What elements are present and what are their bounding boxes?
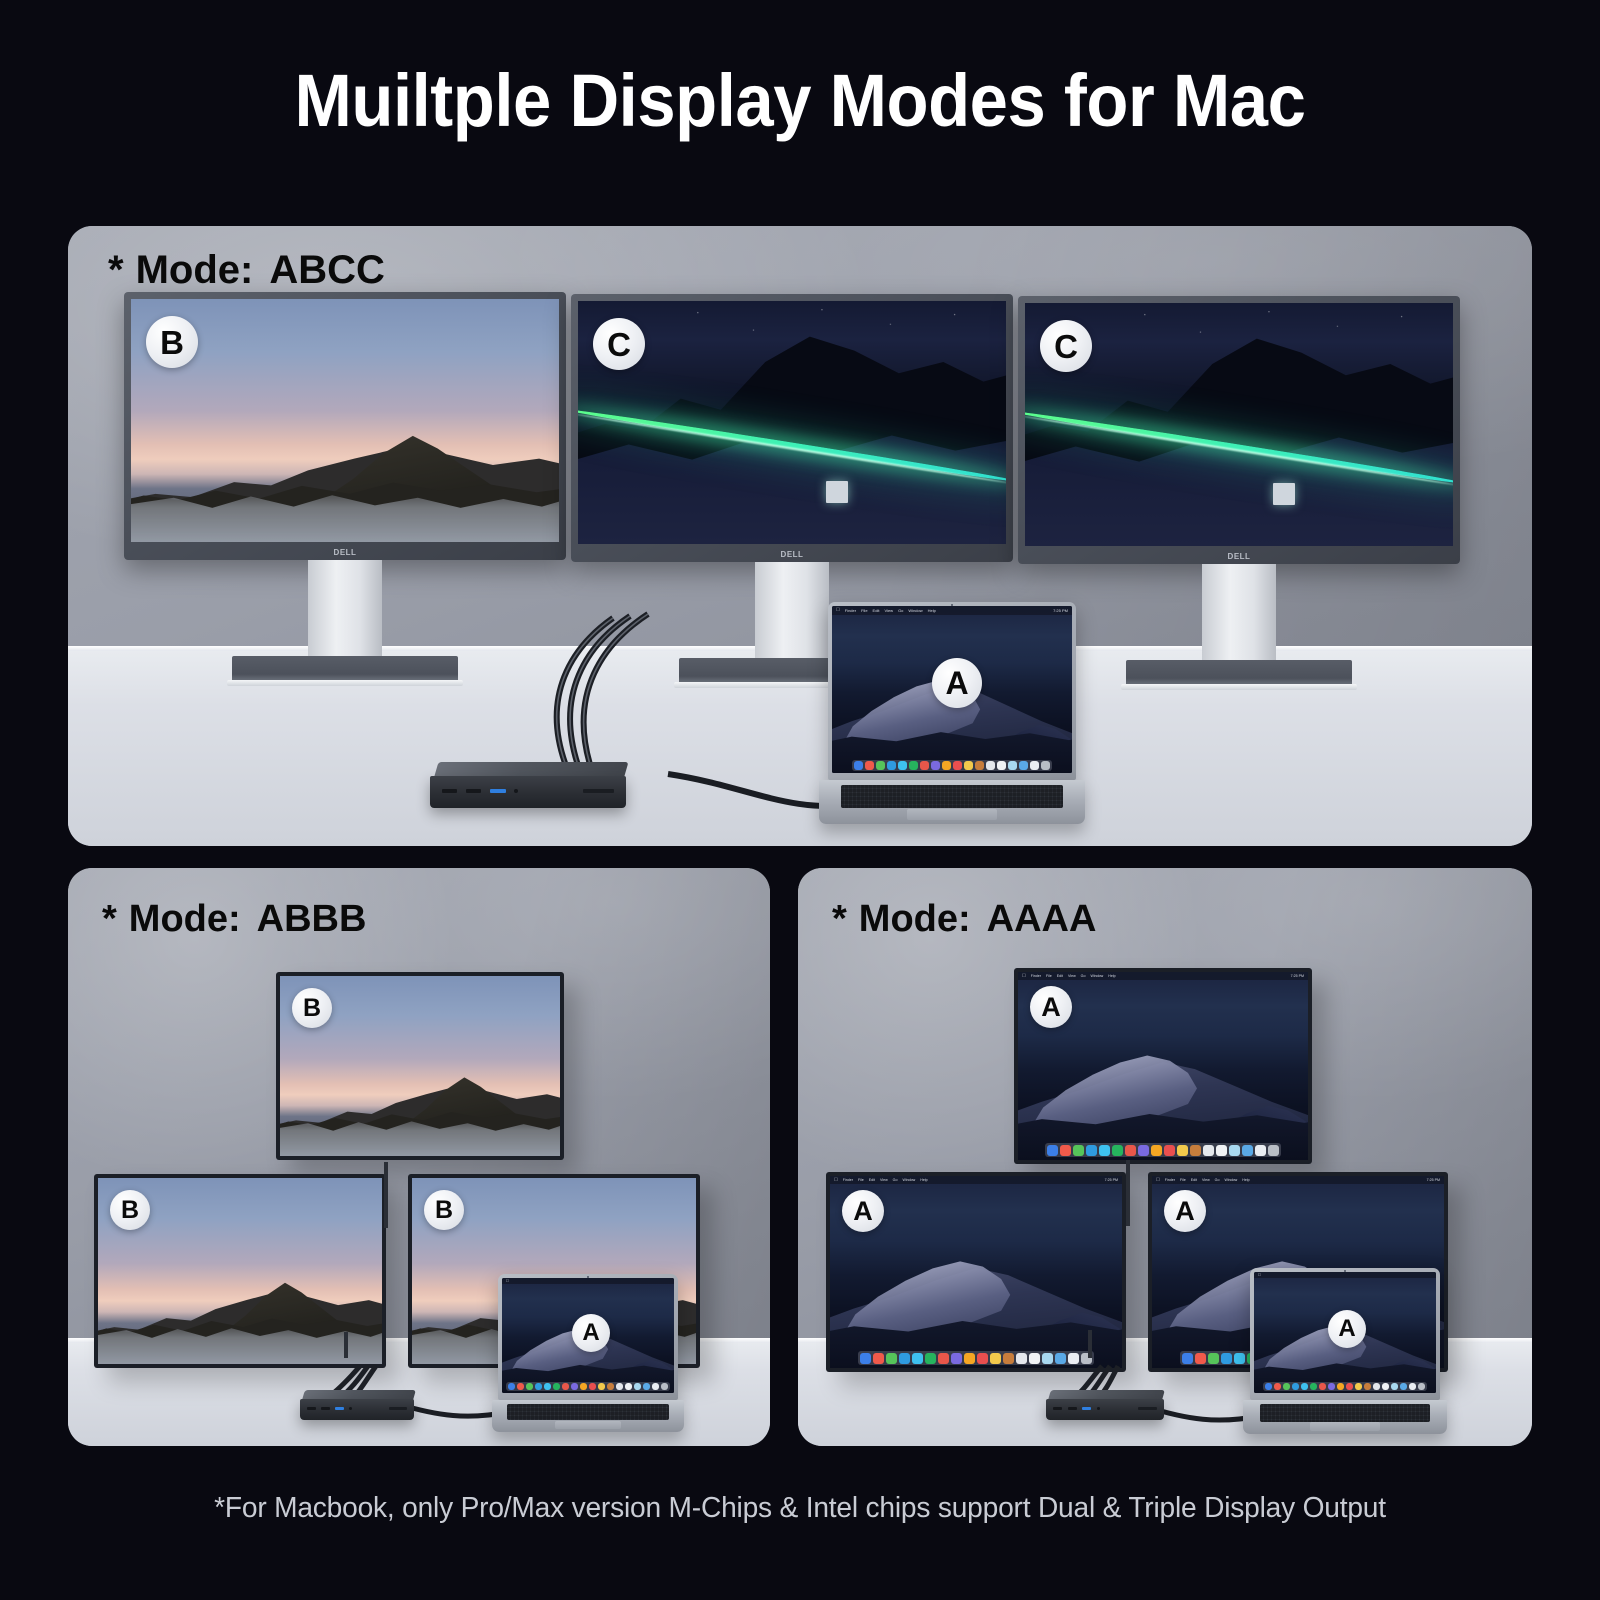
dock-icon[interactable]: [873, 1353, 884, 1364]
menu-item-finder[interactable]: Finder: [845, 608, 856, 613]
dock-icon[interactable]: [1019, 761, 1028, 770]
dock-icon[interactable]: [1029, 1353, 1040, 1364]
dock-icon[interactable]: [616, 1383, 623, 1390]
dock-icon[interactable]: [951, 1353, 962, 1364]
dock-icon[interactable]: [553, 1383, 560, 1390]
audio-jack-icon: [1097, 1407, 1100, 1410]
menubar-status-area[interactable]: 7:25 PM: [1427, 1178, 1440, 1182]
dock-port-row: [1053, 1407, 1157, 1410]
dock-icon[interactable]: [1400, 1383, 1407, 1390]
mode-asterisk: *: [108, 248, 124, 292]
dock-icon[interactable]: [1177, 1145, 1188, 1156]
mode-label-aaaa: *Mode:AAAA: [832, 898, 1096, 941]
menu-item-file[interactable]: File: [1046, 974, 1052, 978]
dock-icon[interactable]: [1208, 1353, 1219, 1364]
dock-icon[interactable]: [1234, 1353, 1245, 1364]
laptop-badge: A: [572, 1314, 610, 1352]
dock-icon[interactable]: [854, 761, 863, 770]
macos-dock[interactable]: [1263, 1382, 1427, 1391]
display-badge: B: [146, 316, 198, 368]
menu-item-help[interactable]: Help: [1108, 974, 1115, 978]
macbook-base: [1243, 1400, 1446, 1434]
dock-icon[interactable]: [1003, 1353, 1014, 1364]
apple-menu-icon[interactable]: : [1156, 1178, 1160, 1183]
menu-item-view[interactable]: View: [1068, 974, 1076, 978]
menu-item-help[interactable]: Help: [928, 608, 936, 613]
macbook-base: [819, 780, 1084, 824]
menu-item-finder[interactable]: Finder: [1165, 1178, 1175, 1182]
audio-jack-icon: [514, 789, 518, 793]
usb-c-port-icon: [1053, 1407, 1062, 1410]
menubar-status-area[interactable]: 7:25 PM: [1105, 1178, 1118, 1182]
menu-item-file[interactable]: File: [861, 608, 867, 613]
mode-word: Mode:: [859, 898, 971, 940]
dock-icon[interactable]: [544, 1383, 551, 1390]
dock-icon[interactable]: [1274, 1383, 1281, 1390]
dock-icon[interactable]: [1255, 1145, 1266, 1156]
dock-icon[interactable]: [1391, 1383, 1398, 1390]
macbook-aaaa:  A: [1250, 1268, 1440, 1436]
dell-logo: DELL: [1228, 552, 1251, 561]
dock-icon[interactable]: [886, 1353, 897, 1364]
dock-icon[interactable]: [931, 761, 940, 770]
monitor-stand-neck: [1202, 564, 1276, 666]
dock-icon[interactable]: [1203, 1145, 1214, 1156]
usb-c-port-icon: [442, 789, 458, 793]
dock-icon[interactable]: [1068, 1353, 1079, 1364]
docking-station-abcc[interactable]: [430, 762, 626, 808]
sd-card-slot-icon: [389, 1407, 407, 1410]
panel-mode-abbb: *Mode:ABBB B: [68, 868, 770, 1446]
dock-icon[interactable]: [1301, 1383, 1308, 1390]
monitor-stand-base: [232, 656, 458, 682]
dock-icon[interactable]: [571, 1383, 578, 1390]
dock-port-row: [307, 1407, 407, 1410]
dock-icon[interactable]: [986, 761, 995, 770]
display-badge: C: [593, 318, 645, 370]
dock-icon[interactable]: [876, 761, 885, 770]
mode-label-abcc: *Mode:ABCC: [108, 248, 385, 293]
display-badge: B: [292, 988, 332, 1028]
dock-icon[interactable]: [1221, 1353, 1232, 1364]
dock-icon[interactable]: [977, 1353, 988, 1364]
macbook-base: [492, 1400, 685, 1432]
mode-word: Mode:: [129, 898, 241, 940]
sd-card-slot-icon: [583, 789, 614, 793]
usb-a-port-icon: [335, 1407, 344, 1410]
usb-c-port-icon: [321, 1407, 330, 1410]
macos-menubar[interactable]: : [502, 1278, 674, 1284]
usb-a-port-icon: [490, 789, 506, 793]
webcam-icon: [587, 1276, 589, 1278]
macos-menubar[interactable]:  Finder File Edit View Go Window Help 7…: [832, 606, 1072, 615]
dock-icon[interactable]: [860, 1353, 871, 1364]
page-title: Muiltple Display Modes for Mac: [56, 62, 1544, 140]
dock-icon[interactable]: [1112, 1145, 1123, 1156]
dock-icon[interactable]: [1319, 1383, 1326, 1390]
monitor-stand-base: [1126, 660, 1352, 686]
display-2-aaaa:  Finder File Edit View Go Window Help 7…: [826, 1172, 1126, 1372]
menu-item-view[interactable]: View: [884, 608, 893, 613]
menu-item-view[interactable]: View: [1202, 1178, 1210, 1182]
dock-icon[interactable]: [1346, 1383, 1353, 1390]
dock-icon[interactable]: [508, 1383, 515, 1390]
audio-jack-icon: [349, 1407, 352, 1410]
keyboard[interactable]: [507, 1404, 669, 1421]
dock-icon[interactable]: [964, 761, 973, 770]
monitor-2-abcc: DELL C: [571, 294, 1013, 562]
dock-icon[interactable]: [1418, 1383, 1425, 1390]
dock-icon[interactable]: [938, 1353, 949, 1364]
dock-icon[interactable]: [1242, 1145, 1253, 1156]
dock-icon[interactable]: [1310, 1383, 1317, 1390]
trackpad[interactable]: [1310, 1422, 1379, 1431]
dock-icon[interactable]: [1081, 1353, 1092, 1364]
mode-value: AAAA: [987, 898, 1097, 940]
dock-icon[interactable]: [634, 1383, 641, 1390]
dock-icon[interactable]: [1138, 1145, 1149, 1156]
dock-icon[interactable]: [598, 1383, 605, 1390]
webcam-icon: [951, 604, 953, 606]
display-badge: A: [842, 1190, 884, 1232]
dock-front-face: [1046, 1399, 1164, 1420]
display-badge: A: [1030, 986, 1072, 1028]
dock-icon[interactable]: [1268, 1145, 1279, 1156]
macos-dock[interactable]: [852, 760, 1052, 771]
menubar-clock: 7:25 PM: [1291, 974, 1304, 978]
display-badge: A: [1164, 1190, 1206, 1232]
dock-icon[interactable]: [1355, 1383, 1362, 1390]
dock-icon[interactable]: [920, 761, 929, 770]
menu-item-file[interactable]: File: [858, 1178, 864, 1182]
dock-icon[interactable]: [1151, 1145, 1162, 1156]
keyboard[interactable]: [841, 785, 1064, 808]
dock-icon[interactable]: [1182, 1353, 1193, 1364]
dock-icon[interactable]: [1041, 761, 1050, 770]
dock-icon[interactable]: [1125, 1145, 1136, 1156]
dock-icon[interactable]: [517, 1383, 524, 1390]
macos-menubar[interactable]:  Finder File Edit View Go Window Help 7…: [1152, 1176, 1444, 1184]
usb-c-port-icon: [307, 1407, 316, 1410]
footnote-text: *For Macbook, only Pro/Max version M-Chi…: [24, 1492, 1576, 1525]
dock-icon[interactable]: [1060, 1145, 1071, 1156]
menu-item-help[interactable]: Help: [1242, 1178, 1249, 1182]
dock-icon[interactable]: [1086, 1145, 1097, 1156]
docking-station-aaaa[interactable]: [1046, 1390, 1164, 1420]
dock-icon[interactable]: [964, 1353, 975, 1364]
usb-c-port-icon: [466, 789, 482, 793]
dock-icon[interactable]: [1195, 1353, 1206, 1364]
dock-icon[interactable]: [1337, 1383, 1344, 1390]
macos-dock[interactable]: [1045, 1143, 1281, 1157]
dock-icon[interactable]: [652, 1383, 659, 1390]
dock-icon[interactable]: [1016, 1353, 1027, 1364]
menu-item-edit[interactable]: Edit: [873, 608, 880, 613]
dell-logo: DELL: [781, 550, 804, 559]
dock-port-row: [442, 789, 615, 793]
mode-word: Mode:: [136, 248, 254, 292]
dock-icon[interactable]: [1216, 1145, 1227, 1156]
apple-menu-icon[interactable]: : [834, 1178, 838, 1183]
panel-mode-abcc: *Mode:ABCC DELL: [68, 226, 1532, 846]
menu-item-window[interactable]: Window: [902, 1178, 915, 1182]
dock-icon[interactable]: [912, 1353, 923, 1364]
mode-label-abbb: *Mode:ABBB: [102, 898, 366, 941]
dock-icon[interactable]: [1164, 1145, 1175, 1156]
menu-item-go[interactable]: Go: [1081, 974, 1086, 978]
menu-item-file[interactable]: File: [1180, 1178, 1186, 1182]
trackpad[interactable]: [555, 1421, 621, 1429]
mode-asterisk: *: [832, 898, 847, 940]
menu-item-help[interactable]: Help: [920, 1178, 927, 1182]
macos-menubar[interactable]:  Finder File Edit View Go Window Help 7…: [830, 1176, 1122, 1184]
dock-icon[interactable]: [535, 1383, 542, 1390]
dock-icon[interactable]: [607, 1383, 614, 1390]
mode-value: ABCC: [269, 248, 385, 292]
dock-icon[interactable]: [997, 761, 1006, 770]
monitor-1-abcc: DELL B: [124, 292, 566, 560]
dock-icon[interactable]: [865, 761, 874, 770]
dock-icon[interactable]: [661, 1383, 668, 1390]
menu-item-go[interactable]: Go: [893, 1178, 898, 1182]
dock-icon[interactable]: [909, 761, 918, 770]
menubar-status-area[interactable]: 7:25 PM: [1291, 974, 1304, 978]
display-badge: C: [1040, 320, 1092, 372]
monitor-stand-neck: [755, 562, 829, 664]
macos-dock[interactable]: [506, 1382, 670, 1391]
dock-icon[interactable]: [898, 761, 907, 770]
dock-front-face: [430, 776, 626, 808]
dock-icon[interactable]: [1042, 1353, 1053, 1364]
macbook-abcc:  Finder File Edit View Go Window Help 7…: [828, 602, 1076, 830]
product-infographic: Muiltple Display Modes for Mac *Mode:ABC…: [0, 0, 1600, 1600]
menu-item-window[interactable]: Window: [1224, 1178, 1237, 1182]
dock-icon[interactable]: [942, 761, 951, 770]
mode-value: ABBB: [257, 898, 367, 940]
dock-icon[interactable]: [953, 761, 962, 770]
macos-menubar[interactable]: : [1254, 1272, 1436, 1278]
dock-icon[interactable]: [643, 1383, 650, 1390]
menu-item-edit[interactable]: Edit: [869, 1178, 875, 1182]
dock-icon[interactable]: [1047, 1145, 1058, 1156]
menubar-clock: 7:25 PM: [1427, 1178, 1440, 1182]
dell-logo: DELL: [334, 548, 357, 557]
dock-icon[interactable]: [562, 1383, 569, 1390]
apple-menu-icon[interactable]: : [506, 1279, 509, 1283]
apple-menu-icon[interactable]: : [836, 608, 840, 613]
dock-icon[interactable]: [1283, 1383, 1290, 1390]
display-2-abbb: B: [94, 1174, 386, 1368]
dock-icon[interactable]: [1382, 1383, 1389, 1390]
menubar-clock: 7:25 PM: [1105, 1178, 1118, 1182]
dock-icon[interactable]: [1409, 1383, 1416, 1390]
dock-icon[interactable]: [1229, 1145, 1240, 1156]
dock-icon[interactable]: [1328, 1383, 1335, 1390]
keyboard[interactable]: [1260, 1404, 1431, 1422]
dock-icon[interactable]: [625, 1383, 632, 1390]
dock-icon[interactable]: [526, 1383, 533, 1390]
menubar-clock: 7:25 PM: [1053, 608, 1068, 613]
usb-a-port-icon: [1082, 1407, 1091, 1410]
dock-icon[interactable]: [1265, 1383, 1272, 1390]
display-badge: B: [110, 1190, 150, 1230]
dock-icon[interactable]: [589, 1383, 596, 1390]
usb-c-port-icon: [1068, 1407, 1077, 1410]
webcam-icon: [1344, 1270, 1346, 1272]
dock-icon[interactable]: [1373, 1383, 1380, 1390]
menu-item-finder[interactable]: Finder: [1031, 974, 1041, 978]
laptop-badge: A: [932, 658, 982, 708]
dock-icon[interactable]: [1008, 761, 1017, 770]
menu-item-go[interactable]: Go: [898, 608, 903, 613]
dock-icon[interactable]: [1030, 761, 1039, 770]
apple-menu-icon[interactable]: : [1258, 1273, 1261, 1277]
macbook-abbb:  A: [498, 1274, 678, 1436]
apple-menu-icon[interactable]: : [1022, 974, 1026, 979]
dock-front-face: [300, 1399, 414, 1420]
dock-icon[interactable]: [1073, 1145, 1084, 1156]
monitor-stand-neck: [308, 560, 382, 662]
dock-icon[interactable]: [1190, 1145, 1201, 1156]
menu-item-window[interactable]: Window: [908, 608, 922, 613]
dock-icon[interactable]: [1364, 1383, 1371, 1390]
laptop-badge: A: [1328, 1310, 1366, 1348]
menu-item-go[interactable]: Go: [1215, 1178, 1220, 1182]
menu-item-finder[interactable]: Finder: [843, 1178, 853, 1182]
mode-asterisk: *: [102, 898, 117, 940]
menu-item-view[interactable]: View: [880, 1178, 888, 1182]
dock-icon[interactable]: [1292, 1383, 1299, 1390]
trackpad[interactable]: [907, 809, 997, 820]
menu-item-edit[interactable]: Edit: [1191, 1178, 1197, 1182]
menu-item-window[interactable]: Window: [1090, 974, 1103, 978]
dock-icon[interactable]: [1099, 1145, 1110, 1156]
dock-icon[interactable]: [990, 1353, 1001, 1364]
display-1-abbb: B: [276, 972, 564, 1160]
menubar-status-area[interactable]: 7:25 PM: [1053, 608, 1068, 613]
menu-item-edit[interactable]: Edit: [1057, 974, 1063, 978]
panel-mode-aaaa: *Mode:AAAA  Finder: [798, 868, 1532, 1446]
monitor-3-abcc: DELL C: [1018, 296, 1460, 564]
macos-dock[interactable]: [858, 1351, 1094, 1365]
display-1-aaaa:  Finder File Edit View Go Window Help 7…: [1014, 968, 1312, 1164]
dock-icon[interactable]: [975, 761, 984, 770]
dock-icon[interactable]: [1055, 1353, 1066, 1364]
sd-card-slot-icon: [1138, 1407, 1157, 1410]
display-badge: B: [424, 1190, 464, 1230]
dock-icon[interactable]: [580, 1383, 587, 1390]
docking-station-abbb[interactable]: [300, 1390, 414, 1420]
macos-menubar[interactable]:  Finder File Edit View Go Window Help 7…: [1018, 972, 1308, 980]
dock-icon[interactable]: [887, 761, 896, 770]
dock-icon[interactable]: [925, 1353, 936, 1364]
dock-icon[interactable]: [899, 1353, 910, 1364]
